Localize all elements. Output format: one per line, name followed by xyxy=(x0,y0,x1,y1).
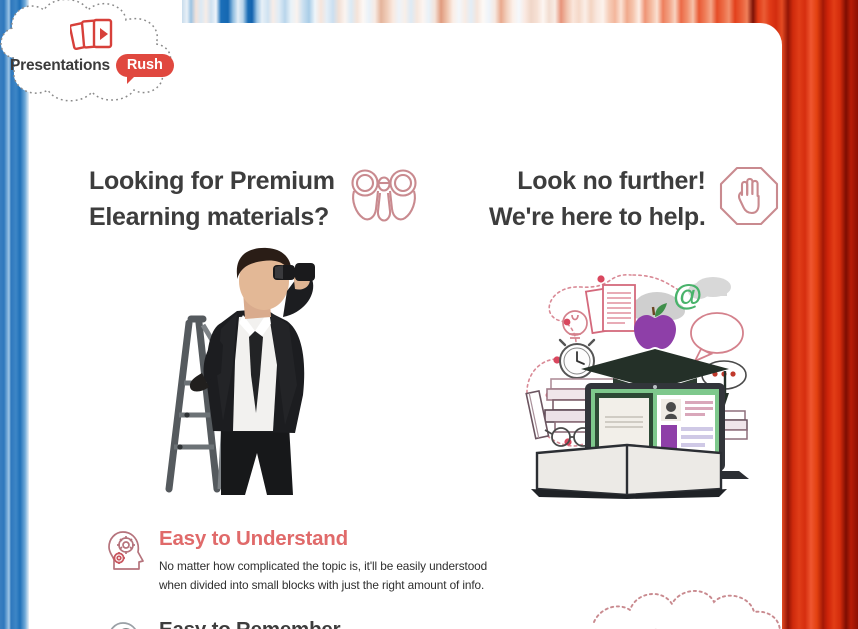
feature-text: Easy to Remember xyxy=(151,617,667,629)
brand-logo-cloud[interactable]: Presentations Rush xyxy=(0,0,206,108)
head-with-magnifier-icon xyxy=(107,617,151,629)
heading-right-line2: We're here to help. xyxy=(489,199,706,235)
brand-name-rush-badge: Rush xyxy=(116,54,174,77)
feature-text: Easy to Understand No matter how complic… xyxy=(151,526,667,595)
feature-description: No matter how complicated the topic is, … xyxy=(159,557,667,595)
heading-left: Looking for Premium Elearning materials? xyxy=(89,163,421,236)
feature-title: Easy to Understand xyxy=(159,526,667,552)
feature-item: Easy to Remember xyxy=(107,617,667,629)
feature-title: Easy to Remember xyxy=(159,617,667,629)
svg-text:@: @ xyxy=(673,279,702,312)
open-book-illustration xyxy=(529,441,729,504)
heading-left-text: Looking for Premium Elearning materials? xyxy=(89,163,335,236)
heading-right-line1: Look no further! xyxy=(489,163,706,199)
heading-right: Look no further! We're here to help. xyxy=(489,163,780,236)
heading-right-text: Look no further! We're here to help. xyxy=(489,163,706,236)
binoculars-icon xyxy=(347,165,421,230)
heading-left-line1: Looking for Premium xyxy=(89,163,335,199)
feature-desc-line1: No matter how complicated the topic is, … xyxy=(159,557,667,576)
head-with-gears-icon xyxy=(107,526,151,579)
stop-hand-octagon-icon xyxy=(718,165,780,232)
feature-desc-line2: when divided into small blocks with just… xyxy=(159,576,667,595)
feature-list: Easy to Understand No matter how complic… xyxy=(107,526,667,629)
headings-row: Looking for Premium Elearning materials? xyxy=(29,163,782,258)
feature-item: Easy to Understand No matter how complic… xyxy=(107,526,667,595)
brand-name-presentations: Presentations xyxy=(10,57,110,75)
heading-left-line2: Elearning materials? xyxy=(89,199,335,235)
dotted-cloud-outline-bottom-right xyxy=(592,578,782,629)
brand-lockup: Presentations Rush xyxy=(10,54,174,77)
slide-card: Looking for Premium Elearning materials? xyxy=(29,23,782,629)
businessman-with-binoculars-on-ladder-photo xyxy=(117,245,357,495)
